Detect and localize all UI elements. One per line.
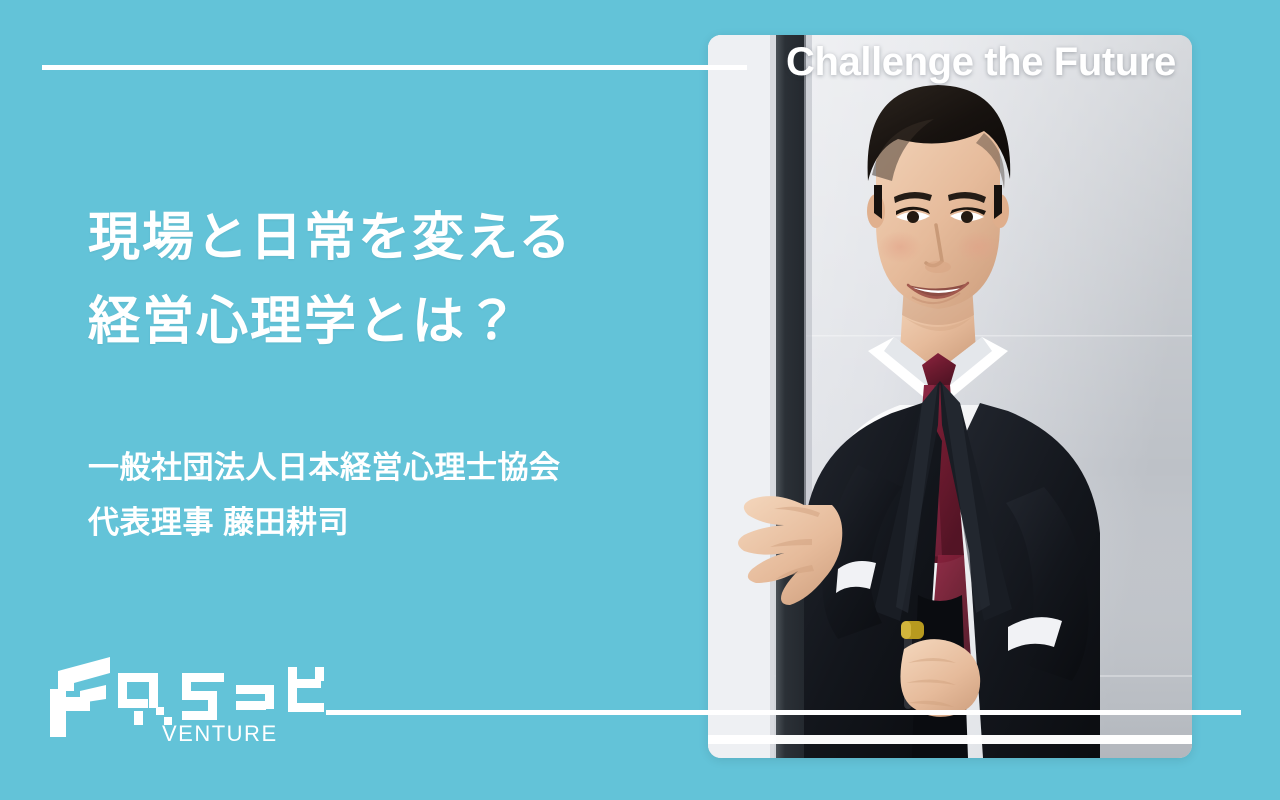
photo-headline: Challenge the Future xyxy=(786,38,1226,86)
speaker-photo xyxy=(708,35,1192,758)
organization-name: 一般社団法人日本経営心理士協会 xyxy=(88,440,561,495)
speaker-name: 代表理事 藤田耕司 xyxy=(88,495,561,550)
logo-sub-wordmark: VENTURE xyxy=(162,721,278,745)
slide-canvas: Challenge the Future 現場と日常を変える 経営心理学とは？ … xyxy=(0,0,1280,800)
title-line-1: 現場と日常を変える xyxy=(88,196,572,280)
furatto-logo-icon: VENTURE xyxy=(44,645,324,745)
furatto-venture-logo[interactable]: VENTURE xyxy=(44,645,324,745)
bottom-divider-rule xyxy=(326,710,1241,715)
title-line-2: 経営心理学とは？ xyxy=(88,280,572,364)
speaker-photo-image xyxy=(708,35,1192,758)
speaker-credit: 一般社団法人日本経営心理士協会 代表理事 藤田耕司 xyxy=(88,440,561,550)
page-title: 現場と日常を変える 経営心理学とは？ xyxy=(88,196,572,364)
top-divider-rule xyxy=(42,65,747,70)
